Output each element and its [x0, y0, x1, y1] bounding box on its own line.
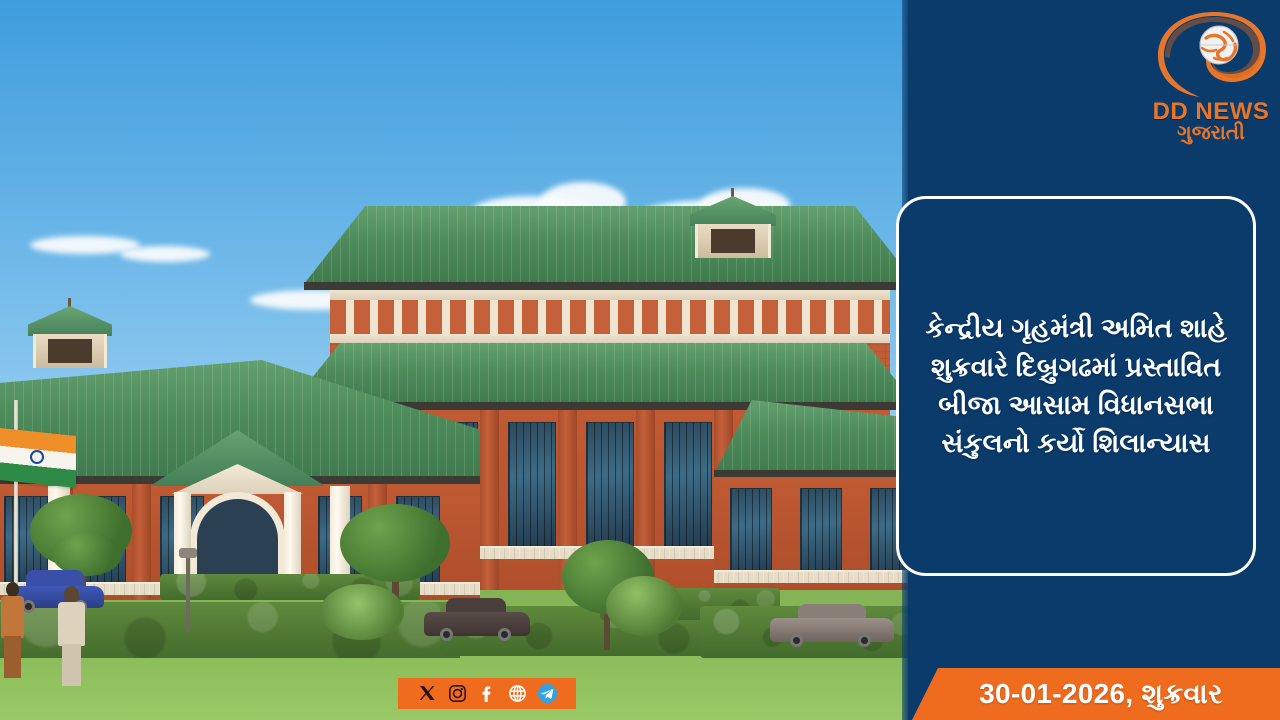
person-legs — [4, 636, 21, 678]
window — [800, 488, 842, 580]
brick-pier — [480, 410, 499, 590]
news-graphic-stage: DD NEWS ગુજરાતી કેન્દ્રીય ગૃહમંત્રી અમિત… — [0, 0, 1280, 720]
tree-canopy — [340, 504, 450, 582]
window — [730, 488, 772, 580]
cupola-roof — [28, 306, 112, 336]
clerestory-brick — [330, 300, 890, 334]
person-standing — [0, 582, 26, 678]
x-twitter-icon[interactable] — [417, 683, 438, 704]
date-banner: 30-01-2026, શુક્રવાર — [912, 668, 1280, 720]
entrance-portico — [150, 430, 325, 590]
person-head — [64, 586, 79, 603]
person-head — [6, 582, 19, 597]
window — [664, 422, 712, 554]
window — [586, 422, 634, 554]
person-standing — [54, 586, 88, 686]
shrub — [320, 584, 404, 646]
shrub-canopy — [320, 584, 404, 640]
ashoka-chakra-icon — [30, 450, 44, 464]
car-wheel — [498, 628, 511, 641]
eave — [304, 282, 912, 290]
car-wheel — [440, 628, 453, 641]
cupola-body — [695, 224, 771, 258]
window — [508, 422, 556, 554]
eave — [714, 470, 912, 477]
cupola-right — [690, 196, 776, 262]
date-text: 30-01-2026, શુક્રવાર — [969, 678, 1223, 711]
news-photo — [0, 0, 912, 720]
cupola-roof — [690, 196, 776, 226]
cupola-left — [28, 306, 112, 370]
cupola-body — [33, 334, 107, 368]
facebook-icon[interactable] — [477, 683, 498, 704]
cornice-band — [330, 290, 890, 300]
roof-right-wing — [714, 400, 912, 474]
lamp-head — [179, 548, 197, 558]
roof-upper — [304, 206, 912, 284]
car-dark — [424, 598, 530, 642]
balustrade — [714, 570, 912, 583]
dd-eye-globe-logo-icon — [1156, 12, 1266, 98]
shrub-canopy — [606, 576, 682, 636]
lamp-post — [186, 556, 190, 632]
telegram-icon[interactable] — [537, 683, 558, 704]
assembly-right-wing — [714, 400, 912, 590]
headline-text: કેન્દ્રીય ગૃહમંત્રી અમિત શાહે શુક્રવારે … — [919, 309, 1233, 462]
car-wheel — [858, 634, 871, 647]
dd-news-logo: DD NEWS ગુજરાતી — [1152, 12, 1270, 144]
car-wheel — [790, 634, 803, 647]
person-torso — [58, 602, 85, 646]
car-body — [770, 618, 894, 642]
dd-news-gujarati-wordmark: ગુજરાતી — [1152, 122, 1270, 145]
cloud — [120, 246, 210, 262]
headline-box: કેન્દ્રીય ગૃહમંત્રી અમિત શાહે શુક્રવારે … — [896, 196, 1256, 576]
instagram-icon[interactable] — [447, 683, 468, 704]
person-legs — [62, 644, 81, 686]
person-torso — [1, 596, 24, 638]
car-silver — [770, 604, 894, 650]
social-links-bar — [398, 678, 576, 709]
website-globe-icon[interactable] — [507, 683, 528, 704]
shrub — [606, 576, 682, 646]
cornice-band — [330, 334, 890, 343]
